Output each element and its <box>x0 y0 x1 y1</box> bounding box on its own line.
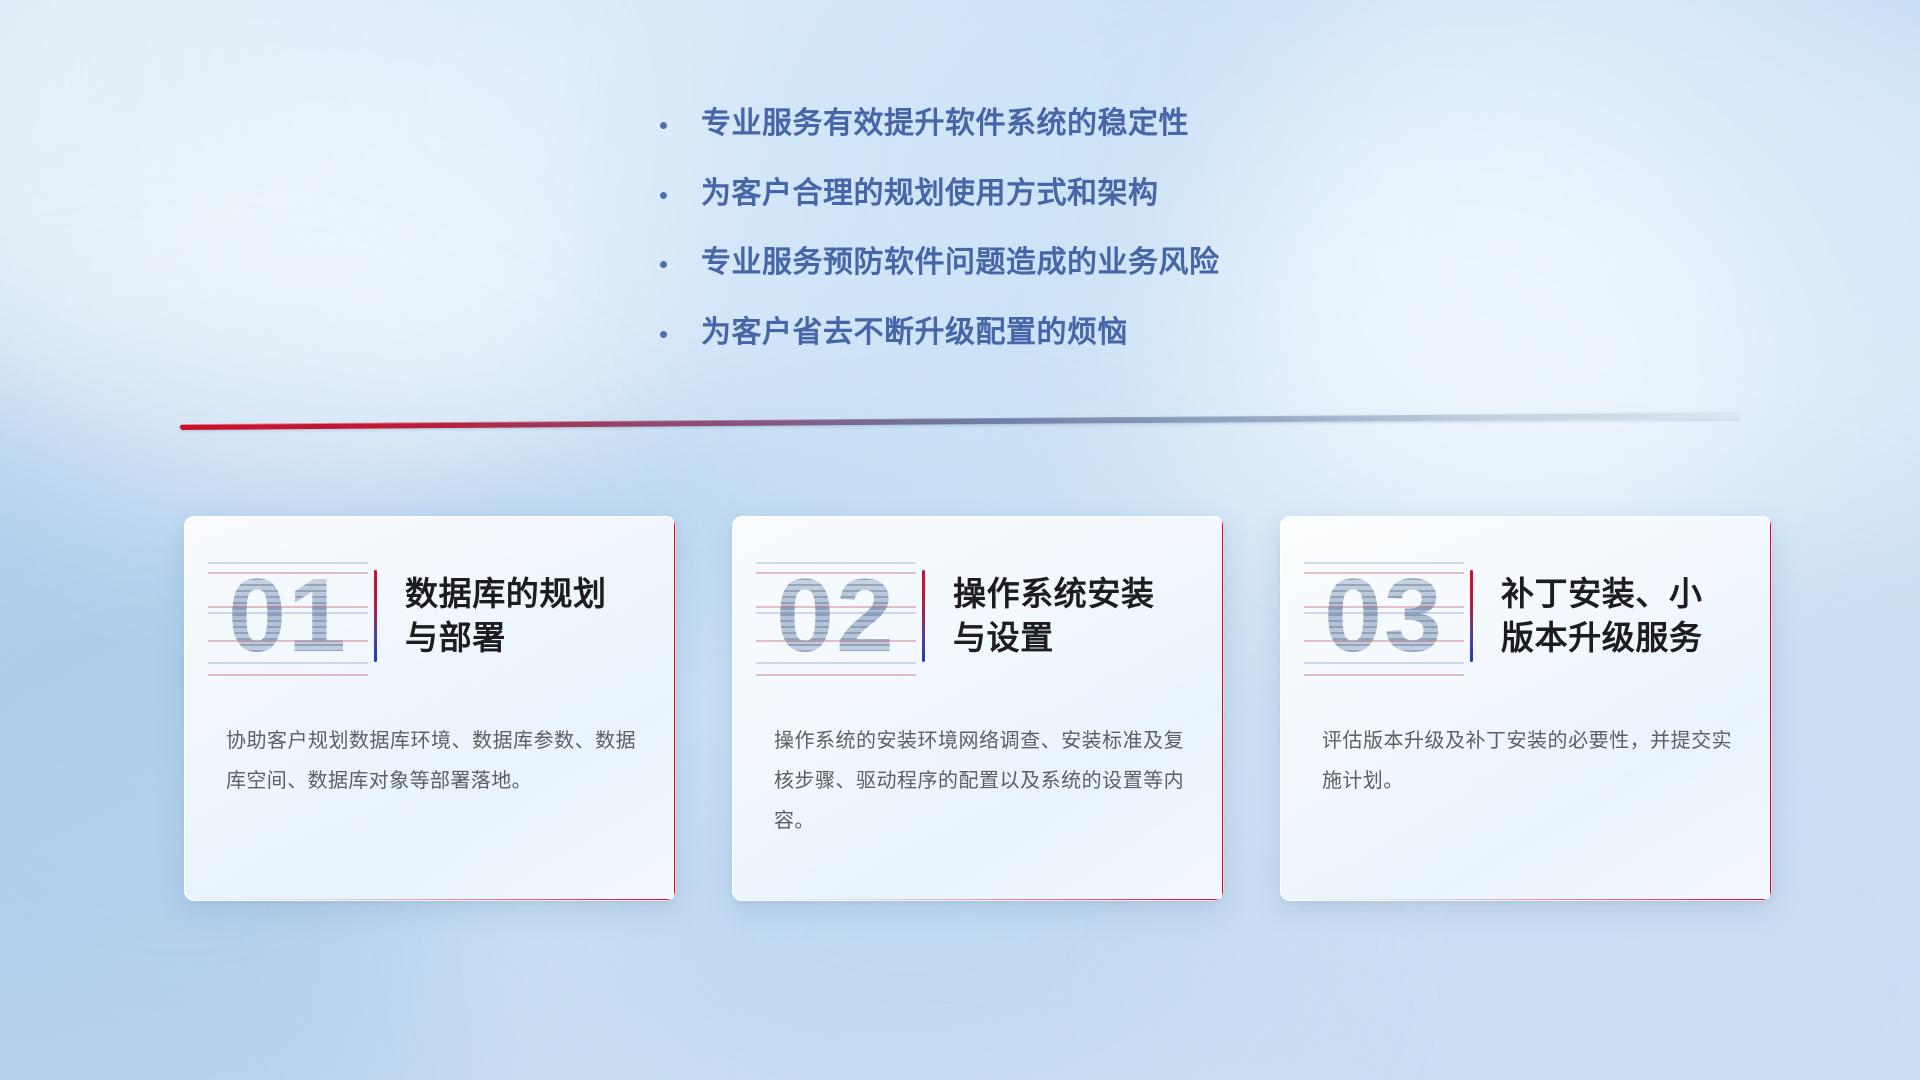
card-number: 02 <box>756 557 916 676</box>
card-title: 数据库的规划 与部署 <box>405 572 625 660</box>
card-accent-right <box>1770 516 1772 901</box>
bullet-text: 专业服务预防软件问题造成的业务风险 <box>701 244 1220 282</box>
card-accent-bottom <box>184 899 676 901</box>
service-card[interactable]: 02 操作系统安装 与设置 操作系统的安装环境网络调查、安装标准及复核步骤、驱动… <box>732 516 1224 901</box>
card-header: 02 操作系统安装 与设置 <box>732 516 1224 716</box>
list-item: 为客户省去不断升级配置的烦恼 <box>660 314 1420 352</box>
list-item: 为客户合理的规划使用方式和架构 <box>660 175 1420 213</box>
accent-bar <box>374 570 377 662</box>
service-card-group: 01 数据库的规划 与部署 协助客户规划数据库环境、数据库参数、数据库空间、数据… <box>184 516 1772 901</box>
bullet-dot-icon <box>660 261 667 268</box>
bullet-text: 为客户省去不断升级配置的烦恼 <box>701 314 1128 352</box>
card-number: 03 <box>1304 557 1464 676</box>
card-accent-bottom <box>732 899 1224 901</box>
card-header: 01 数据库的规划 与部署 <box>184 516 676 716</box>
service-card[interactable]: 03 补丁安装、小 版本升级服务 评估版本升级及补丁安装的必要性，并提交实施计划… <box>1280 516 1772 901</box>
list-item: 专业服务预防软件问题造成的业务风险 <box>660 244 1420 282</box>
card-title: 操作系统安装 与设置 <box>953 572 1173 660</box>
card-title: 补丁安装、小 版本升级服务 <box>1501 572 1721 660</box>
benefits-bullet-list: 专业服务有效提升软件系统的稳定性 为客户合理的规划使用方式和架构 专业服务预防软… <box>660 105 1420 351</box>
card-header: 03 补丁安装、小 版本升级服务 <box>1280 516 1772 716</box>
bullet-text: 专业服务有效提升软件系统的稳定性 <box>701 105 1189 143</box>
card-description: 协助客户规划数据库环境、数据库参数、数据库空间、数据库对象等部署落地。 <box>226 721 636 801</box>
card-description: 评估版本升级及补丁安装的必要性，并提交实施计划。 <box>1322 721 1732 801</box>
card-accent-right <box>1222 516 1224 901</box>
card-accent-bottom <box>1280 899 1772 901</box>
bullet-dot-icon <box>660 331 667 338</box>
bullet-dot-icon <box>660 192 667 199</box>
card-accent-right <box>674 516 676 901</box>
list-item: 专业服务有效提升软件系统的稳定性 <box>660 105 1420 143</box>
section-divider <box>180 418 1740 440</box>
accent-bar <box>922 570 925 662</box>
bullet-text: 为客户合理的规划使用方式和架构 <box>701 175 1159 213</box>
card-number: 01 <box>208 557 368 676</box>
bullet-dot-icon <box>660 122 667 129</box>
card-description: 操作系统的安装环境网络调查、安装标准及复核步骤、驱动程序的配置以及系统的设置等内… <box>774 721 1184 841</box>
accent-bar <box>1470 570 1473 662</box>
service-card[interactable]: 01 数据库的规划 与部署 协助客户规划数据库环境、数据库参数、数据库空间、数据… <box>184 516 676 901</box>
